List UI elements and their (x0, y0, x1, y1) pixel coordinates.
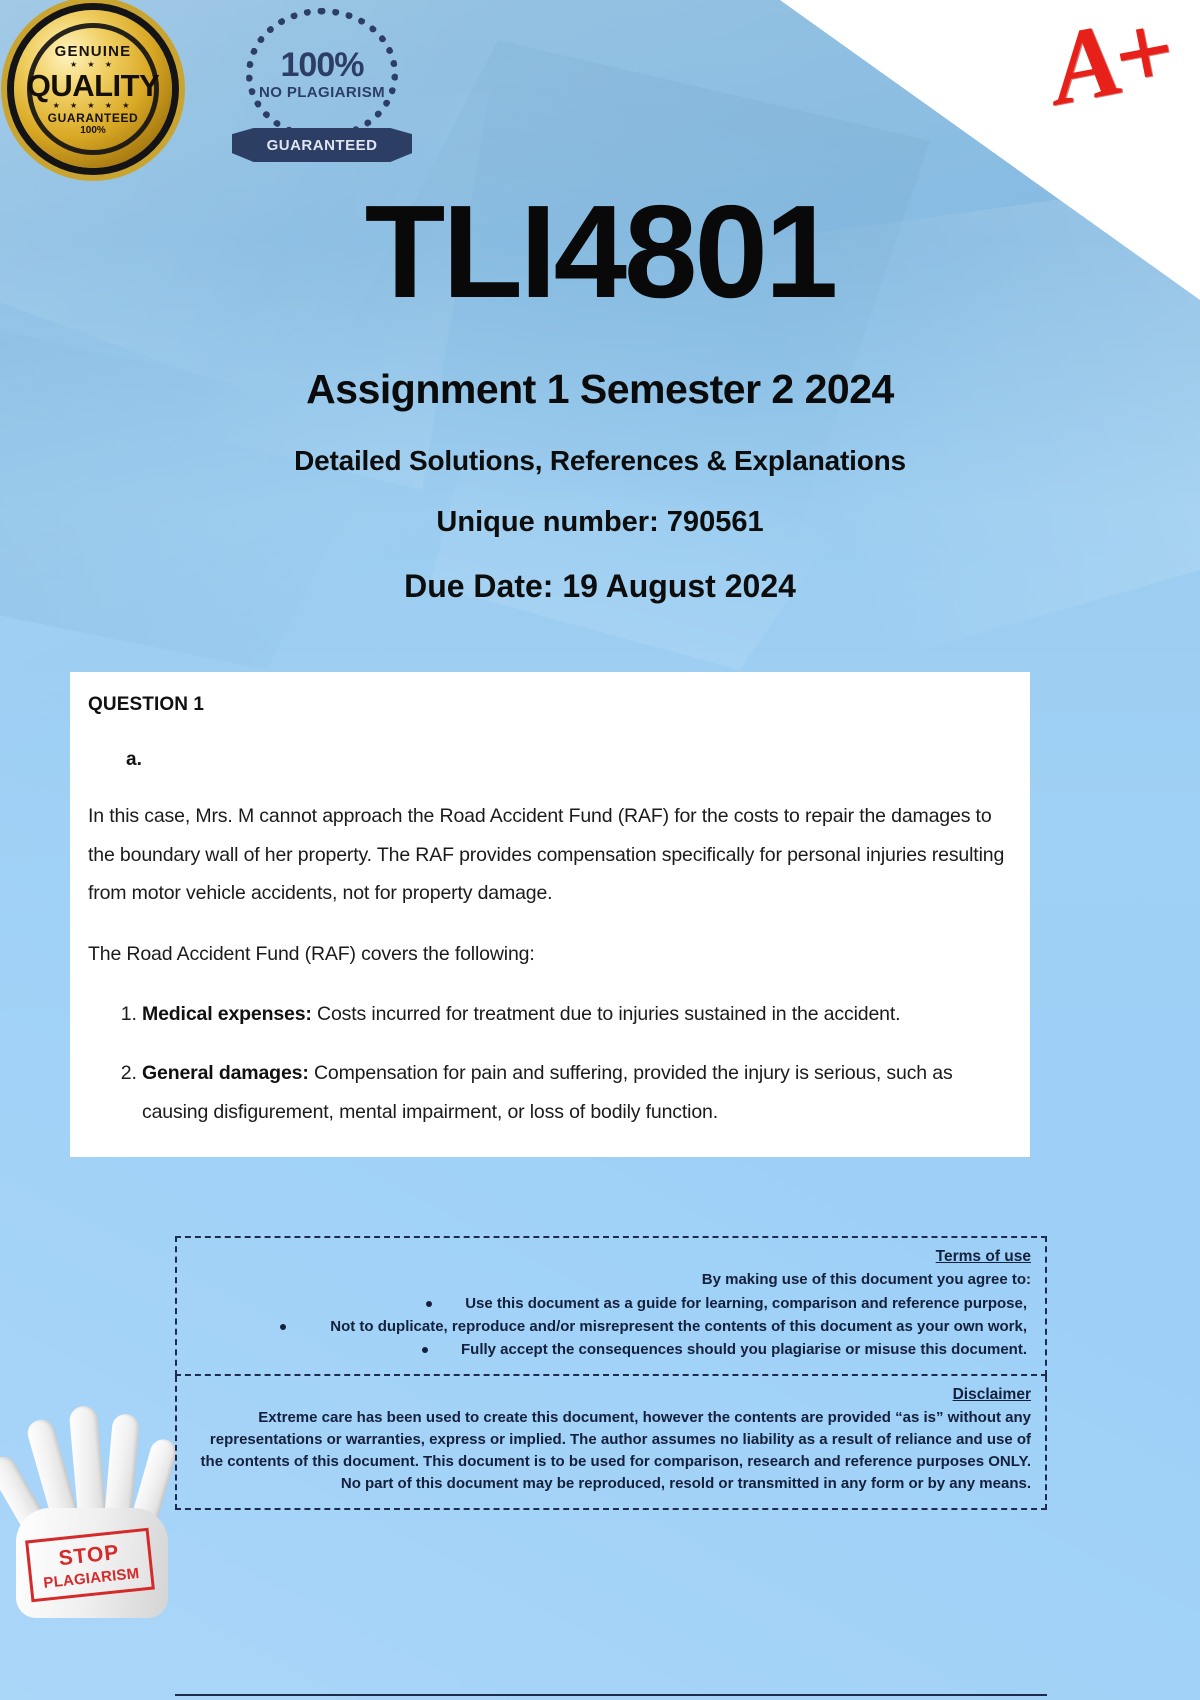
unique-number-label: Unique number: 790561 (0, 506, 1200, 539)
terms-of-use-list: Use this document as a guide for learnin… (191, 1293, 1031, 1362)
question-sub-label: a. (126, 749, 1008, 771)
answer-paragraph-2: The Road Accident Fund (RAF) covers the … (88, 935, 1008, 974)
assignment-subtitle: Assignment 1 Semester 2 2024 (0, 366, 1200, 413)
terms-of-use-title: Terms of use (191, 1248, 1031, 1266)
stop-plagiarism-stamp: STOP PLAGIARISM (25, 1528, 155, 1603)
answer-paragraph-1: In this case, Mrs. M cannot approach the… (88, 797, 1008, 913)
module-code-title: TLI4801 (0, 186, 1200, 318)
badge-quality-label: QUALITY (27, 70, 160, 101)
raf-coverage-list: Medical expenses: Costs incurred for tre… (88, 995, 1008, 1131)
list-item: General damages: Compensation for pain a… (142, 1054, 1008, 1131)
badge-stars-bottom-icon: ★ ★ ★ ★ ★ (53, 102, 134, 110)
disclaimer-body-text: Extreme care has been used to create thi… (191, 1407, 1031, 1495)
list-item: Fully accept the consequences should you… (191, 1339, 1031, 1361)
solutions-subtitle: Detailed Solutions, References & Explana… (0, 445, 1200, 477)
terms-bullet-text: Fully accept the consequences should you… (461, 1341, 1027, 1358)
disclaimer-title: Disclaimer (191, 1386, 1031, 1404)
list-item: Medical expenses: Costs incurred for tre… (142, 995, 1008, 1034)
page-bottom-rule (175, 1694, 1047, 1696)
list-item-term: General damages: (142, 1062, 309, 1084)
plagiarism-label: PLAGIARISM (43, 1565, 140, 1590)
list-item-term: Medical expenses: (142, 1003, 312, 1025)
stop-label: STOP (58, 1541, 121, 1568)
question-content-card: QUESTION 1 a. In this case, Mrs. M canno… (70, 672, 1030, 1157)
due-date-label: Due Date: 19 August 2024 (0, 568, 1200, 605)
cover-hero: TLI4801 Assignment 1 Semester 2 2024 Det… (0, 0, 1200, 605)
badge-genuine-label: GENUINE (55, 43, 132, 60)
question-heading: QUESTION 1 (88, 694, 1008, 716)
disclaimer-box: Disclaimer Extreme care has been used to… (175, 1376, 1047, 1509)
badge-guaranteed-label: GUARANTEED (48, 111, 139, 125)
list-item: Not to duplicate, reproduce and/or misre… (191, 1316, 1031, 1338)
legal-notices: Terms of use By making use of this docum… (175, 1236, 1047, 1510)
list-item-text: Costs incurred for treatment due to inju… (312, 1003, 901, 1025)
badge-percent-label: 100% (80, 125, 106, 136)
list-item: Use this document as a guide for learnin… (191, 1293, 1031, 1315)
terms-of-use-lead: By making use of this document you agree… (191, 1269, 1031, 1291)
document-page: A+ GENUINE ★ ★ ★ QUALITY ★ ★ ★ ★ ★ GUARA… (0, 0, 1200, 1700)
terms-of-use-box: Terms of use By making use of this docum… (175, 1236, 1047, 1376)
terms-bullet-text: Use this document as a guide for learnin… (465, 1295, 1027, 1312)
terms-bullet-text: Not to duplicate, reproduce and/or misre… (330, 1318, 1027, 1335)
